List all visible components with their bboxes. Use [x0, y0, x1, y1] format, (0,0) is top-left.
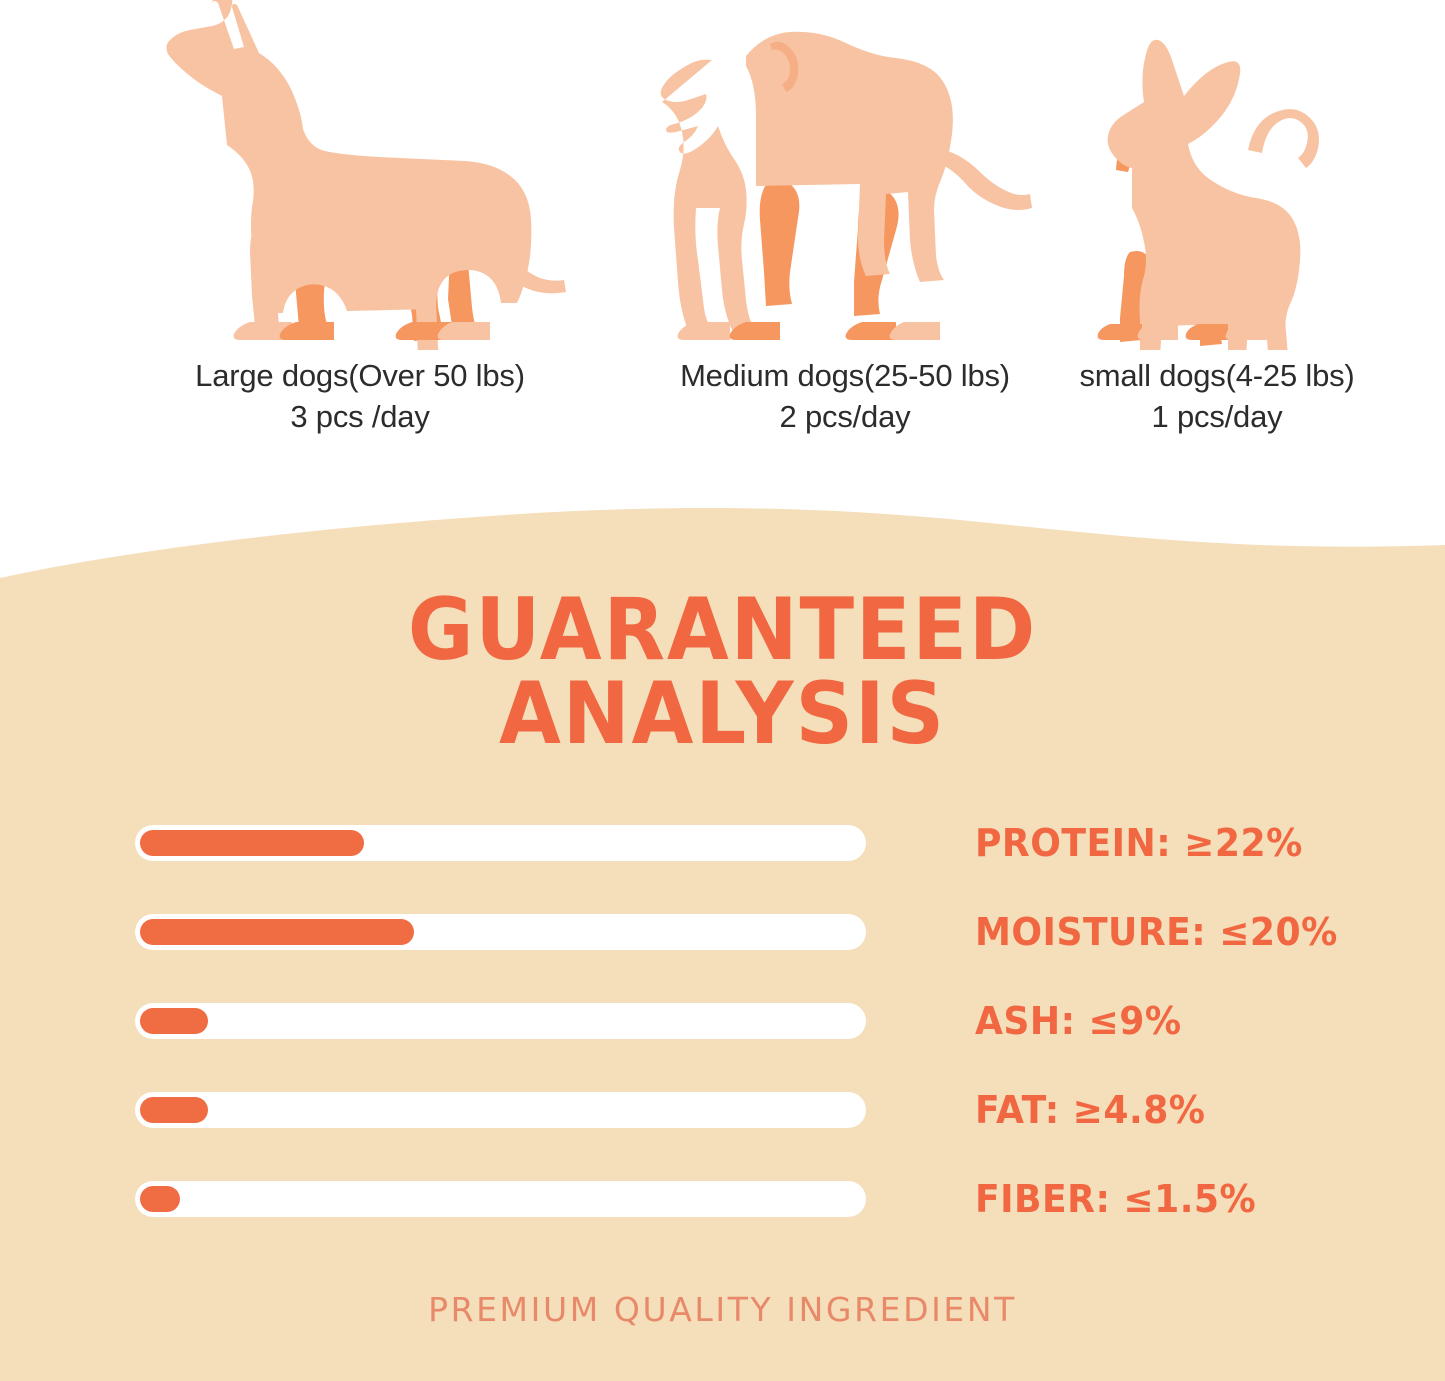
label-ash: ASH: ≤9% — [975, 999, 1182, 1043]
page-title: GUARANTEED ANALYSIS — [51, 588, 1395, 757]
bar-track-protein — [135, 825, 866, 861]
large-dog-size-label: Large dogs(Over 50 lbs) — [195, 358, 525, 393]
bar-row-moisture — [135, 914, 870, 950]
guaranteed-analysis-panel: GUARANTEED ANALYSIS — [0, 470, 1445, 1381]
label-moisture: MOISTURE: ≤20% — [975, 910, 1338, 954]
large-dog-silhouette-icon — [150, 0, 570, 350]
bar-row-fat — [135, 1092, 870, 1128]
bar-track-fiber — [135, 1181, 866, 1217]
bar-track-ash — [135, 1003, 866, 1039]
label-fat: FAT: ≥4.8% — [975, 1088, 1205, 1132]
label-row-fiber: FIBER: ≤1.5% — [975, 1181, 1405, 1217]
nutrient-labels: PROTEIN: ≥22% MOISTURE: ≤20% ASH: ≤9% FA… — [975, 825, 1405, 1270]
large-dog-serving: 3 pcs /day — [50, 397, 670, 438]
bar-track-fat — [135, 1092, 866, 1128]
feeding-guide-section: Large dogs(Over 50 lbs) 3 pcs /day — [0, 0, 1445, 520]
bar-fill-fiber — [140, 1186, 180, 1212]
label-row-moisture: MOISTURE: ≤20% — [975, 914, 1405, 950]
label-fiber: FIBER: ≤1.5% — [975, 1177, 1256, 1221]
nutrient-bars — [135, 825, 870, 1270]
bar-fill-moisture — [140, 919, 414, 945]
label-row-protein: PROTEIN: ≥22% — [975, 825, 1405, 861]
bar-track-moisture — [135, 914, 866, 950]
label-row-ash: ASH: ≤9% — [975, 1003, 1405, 1039]
panel-content: GUARANTEED ANALYSIS — [0, 470, 1445, 1381]
small-dog-serving: 1 pcs/day — [1022, 397, 1412, 438]
small-dog-size-label: small dogs(4-25 lbs) — [1079, 358, 1354, 393]
medium-dog-size-label: Medium dogs(25-50 lbs) — [680, 358, 1010, 393]
title-line-1: GUARANTEED — [51, 588, 1395, 672]
medium-dog-silhouette-icon — [650, 0, 1040, 350]
small-dog-caption: small dogs(4-25 lbs) 1 pcs/day — [1022, 356, 1412, 438]
label-protein: PROTEIN: ≥22% — [975, 821, 1303, 865]
large-dog-caption: Large dogs(Over 50 lbs) 3 pcs /day — [50, 356, 670, 438]
bar-row-ash — [135, 1003, 870, 1039]
feeding-guide-large-dog: Large dogs(Over 50 lbs) 3 pcs /day — [50, 0, 670, 438]
bar-row-protein — [135, 825, 870, 861]
label-row-fat: FAT: ≥4.8% — [975, 1092, 1405, 1128]
feeding-guide-small-dog: small dogs(4-25 lbs) 1 pcs/day — [1022, 0, 1412, 438]
bar-fill-fat — [140, 1097, 208, 1123]
bar-fill-ash — [140, 1008, 208, 1034]
small-dog-silhouette-icon — [1072, 0, 1362, 350]
bar-row-fiber — [135, 1181, 870, 1217]
infographic-page: Large dogs(Over 50 lbs) 3 pcs /day — [0, 0, 1445, 1381]
premium-quality-note: PREMIUM QUALITY INGREDIENT — [0, 1290, 1445, 1329]
bar-fill-protein — [140, 830, 364, 856]
title-line-2: ANALYSIS — [51, 672, 1395, 756]
